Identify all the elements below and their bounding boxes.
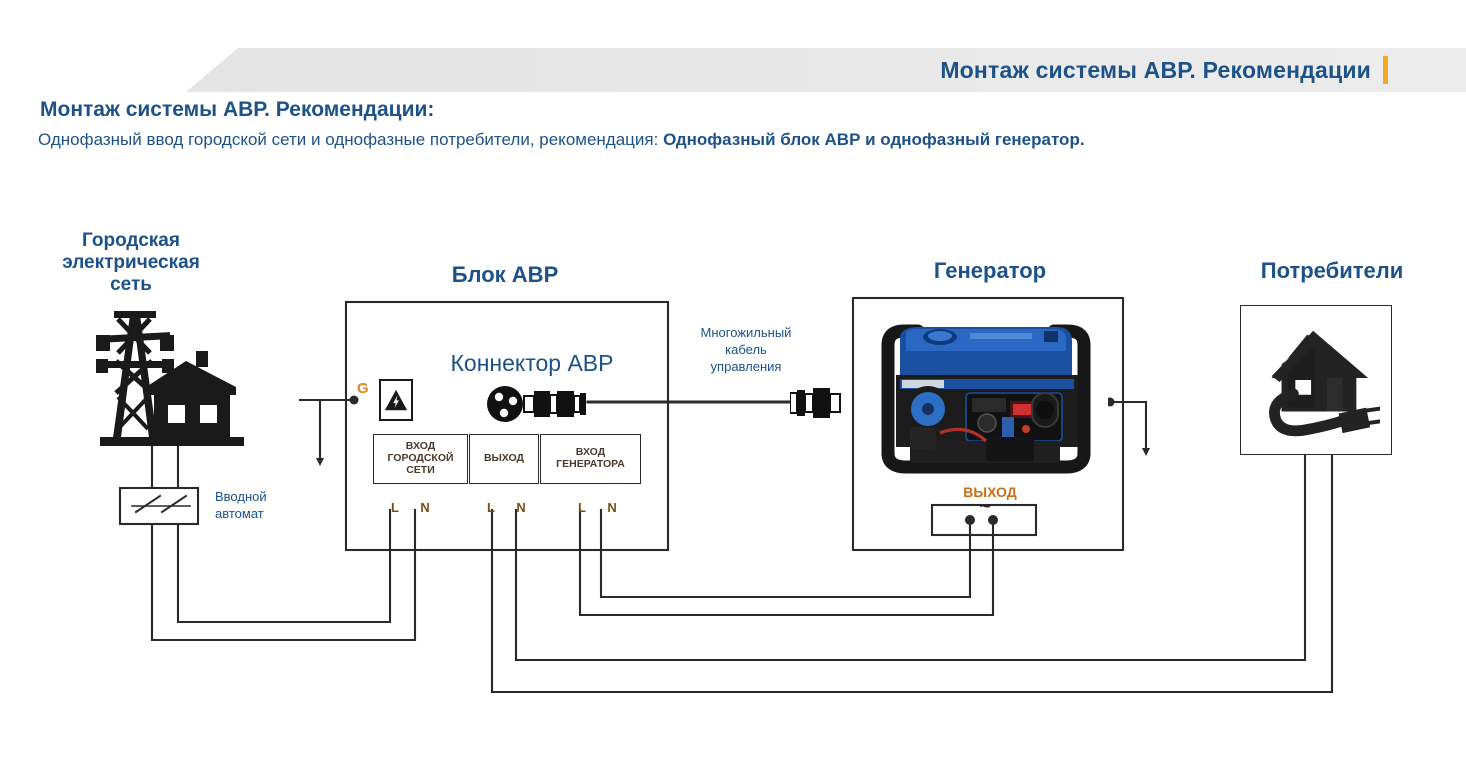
slide-page: Монтаж системы АВР. Рекомендации Монтаж … <box>0 0 1466 780</box>
connector-label: Коннектор АВР <box>412 350 652 377</box>
caption-consumers: Потребители <box>1222 258 1442 283</box>
gen-out-terminal-l <box>965 515 975 525</box>
pin-labels-mains: L N <box>391 500 439 515</box>
caption-generator: Генератор <box>880 258 1100 283</box>
avr-out-to-consumers-n <box>516 455 1305 660</box>
grid-to-avr-l <box>152 510 415 640</box>
grid-to-avr-n <box>178 510 390 622</box>
terminal-box-mains-input[interactable]: ВХОД ГОРОДСКОЙ СЕТИ <box>373 434 468 484</box>
house-with-power-plug-icon <box>1240 305 1392 455</box>
pin-labels-generator: L N <box>578 500 626 515</box>
terminal-box-output[interactable]: ВЫХОД <box>469 434 539 484</box>
caption-grid: Городская электрическая сеть <box>18 230 244 296</box>
3-pin-socket-connector <box>486 384 596 424</box>
generator-right-arrow <box>1110 402 1146 452</box>
ac-symbol: ~ <box>970 500 1000 516</box>
pin-labels-output: L N <box>487 500 535 515</box>
high-voltage-warning-icon <box>379 379 413 421</box>
gen-to-avr-l <box>601 510 970 597</box>
multicore-control-cable <box>790 387 842 419</box>
diagram-stage: Городская электрическая сеть <box>0 0 1466 780</box>
breaker-label: Вводной автомат <box>215 489 307 523</box>
portable-blue-generator-photo <box>866 305 1108 480</box>
avr-out-to-consumers-l <box>492 455 1332 692</box>
power-tower-house-icon <box>78 305 258 465</box>
caption-avr-block: Блок АВР <box>400 262 610 287</box>
terminal-box-generator-input[interactable]: ВХОД ГЕНЕРАТОРА <box>540 434 641 484</box>
control-cable-label: Многожильный кабель управления <box>676 325 816 376</box>
ground-label: G <box>357 380 369 397</box>
